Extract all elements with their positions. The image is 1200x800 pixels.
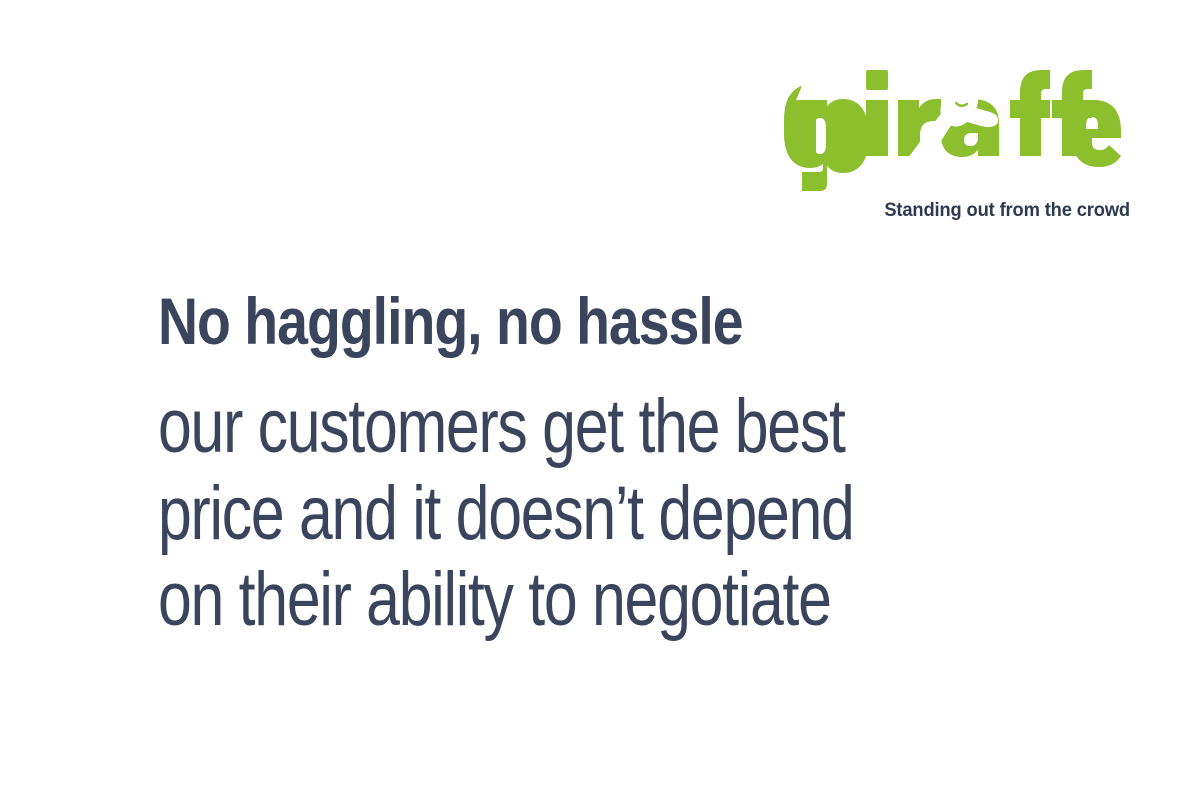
headline: No haggling, no hassle [158,288,964,354]
subheadline-line-1: our customers get the best [158,384,926,471]
wordmark-letters [784,70,1121,191]
slide-canvas: Standing out from the crowd No haggling,… [0,0,1200,800]
giraffe-wordmark-svg [790,62,1130,194]
brand-tagline: Standing out from the crowd [806,200,1130,221]
letter-i-dot [866,70,888,90]
giraffe-wordmark-logo[interactable] [790,62,1130,194]
message-block: No haggling, no hassle our customers get… [158,288,1118,644]
subheadline: our customers get the best price and it … [158,354,1118,644]
subheadline-line-2: price and it doesn’t depend [158,471,926,558]
subheadline-line-3: on their ability to negotiate [158,557,926,644]
brand-logo-block[interactable]: Standing out from the crowd [785,62,1130,221]
